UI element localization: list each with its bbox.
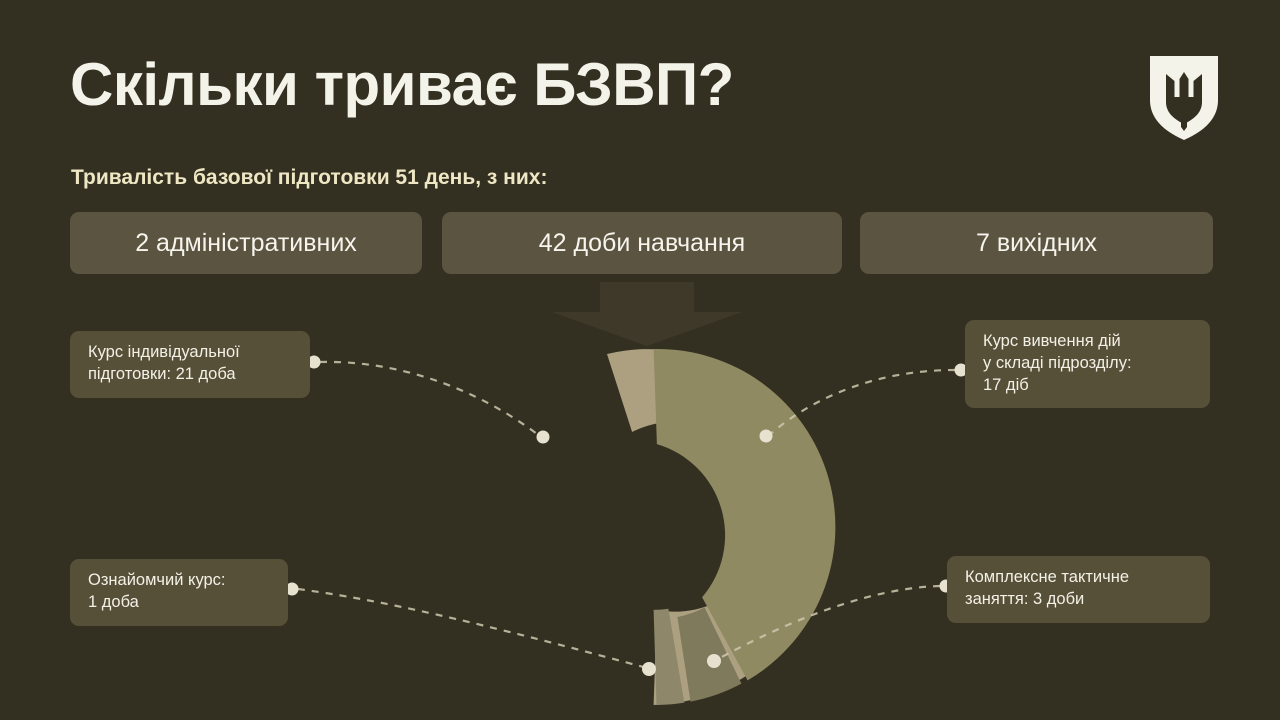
summary-box-training-days: 42 доби навчання [442,212,842,274]
down-arrow-icon [552,282,742,346]
donut-segment-tactical-session [677,607,741,701]
donut-segment-individual-course [607,349,827,705]
callout-individual-course: Курс індивідуальної підготовки: 21 доба [70,331,310,398]
summary-box-days-off: 7 вихідних [860,212,1213,274]
subtitle: Тривалість базової підготовки 51 день, з… [71,166,547,190]
summary-boxes-row: 2 адміністративних 42 доби навчання 7 ви… [70,212,1213,274]
connector-unit-actions-course [760,364,968,443]
donut-segment-intro-course [654,609,685,705]
ukraine-armed-forces-trident-shield-icon [1150,56,1218,140]
page-title: Скільки триває БЗВП? [70,50,734,119]
callout-tactical-session: Комплексне тактичне заняття: 3 доби [947,556,1210,623]
connector-tactical-session [707,580,953,669]
donut-segment-unit-actions-course [654,349,836,680]
connector-individual-course [308,356,550,444]
callout-intro-course: Ознайомчий курс: 1 доба [70,559,288,626]
summary-box-administrative: 2 адміністративних [70,212,422,274]
connector-intro-course [286,583,657,677]
callout-unit-actions-course: Курс вивчення дій у складі підрозділу: 1… [965,320,1210,408]
